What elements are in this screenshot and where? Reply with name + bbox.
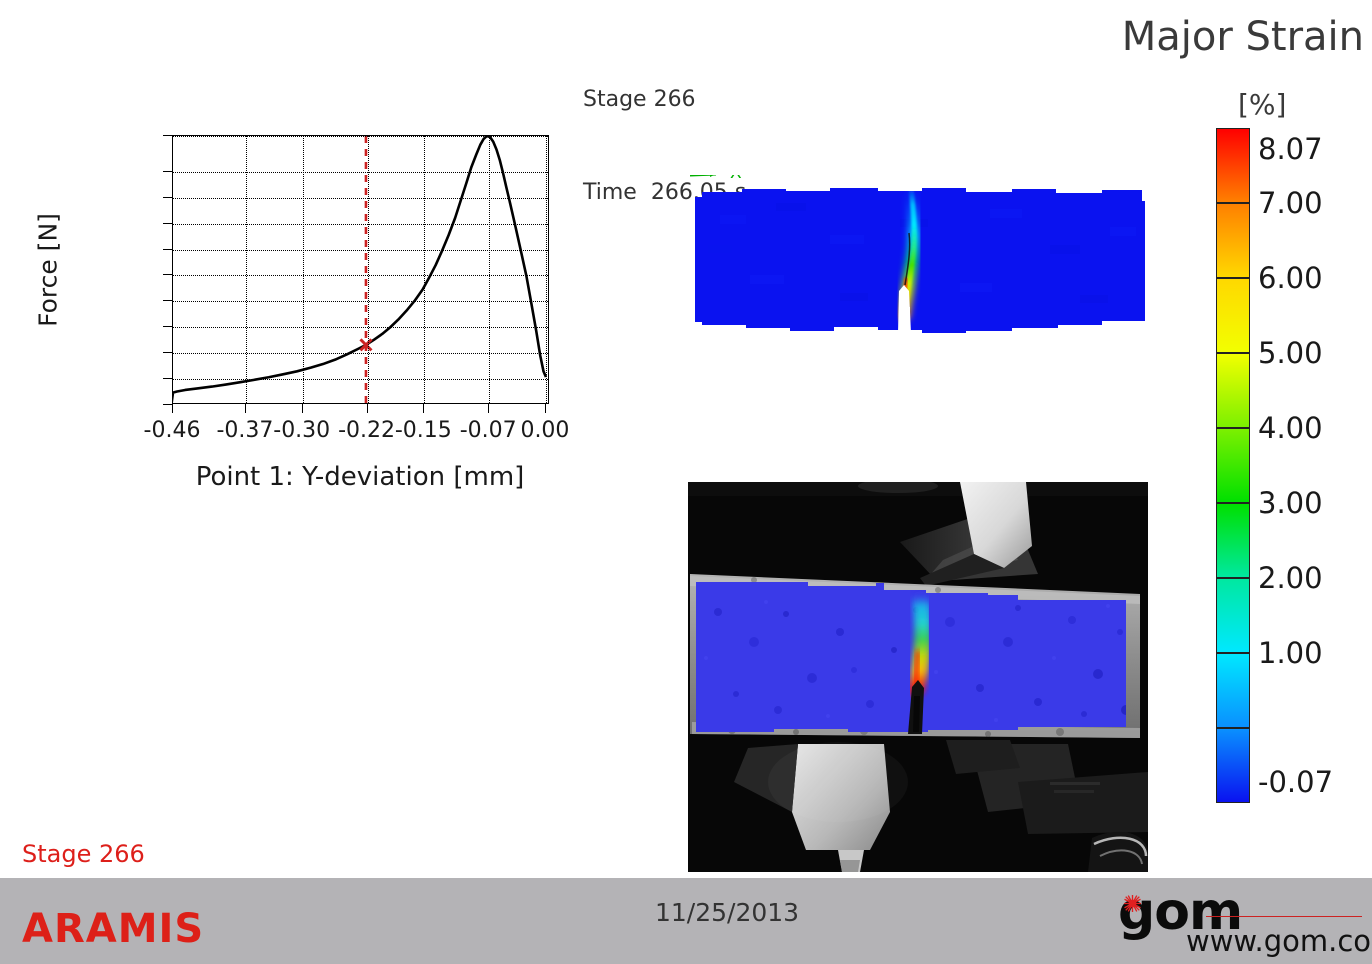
chart-y-tick-mark: [163, 300, 172, 301]
chart-x-tick-label: -0.07: [460, 418, 517, 443]
colorbar-tick-label: 8.07: [1258, 132, 1323, 166]
chart-y-tick-mark: [163, 326, 172, 327]
chart-y-tick-mark: [163, 249, 172, 250]
colorbar-unit-label: [%]: [1238, 88, 1286, 121]
chart-plot-area: [172, 135, 549, 404]
colorbar-segment: [1216, 653, 1250, 728]
product-name: ARAMIS: [22, 906, 204, 952]
page-title: Major Strain: [1122, 14, 1364, 60]
chart-x-axis-label: Point 1: Y-deviation [mm]: [196, 462, 525, 492]
gom-url-text: www.gom.com: [1186, 924, 1372, 958]
chart-y-tick-mark: [163, 223, 172, 224]
chart-y-tick-mark: [163, 171, 172, 172]
chart-x-tick-mark: [172, 404, 173, 413]
chart-y-axis-label: Force [N]: [34, 213, 63, 327]
stage-caption: Stage 266: [22, 840, 145, 868]
chart-x-tick-mark: [302, 404, 303, 413]
colorbar-tick-label: 6.00: [1258, 261, 1323, 295]
chart-x-tick-label: -0.15: [395, 418, 452, 443]
gom-logo-rule: [1206, 916, 1362, 917]
chart-y-tick-mark: [163, 135, 172, 136]
coordinate-triad: Z X: [690, 175, 742, 183]
colorbar-tick-label: 5.00: [1258, 336, 1323, 370]
colorbar-tick-label: 7.00: [1258, 186, 1323, 220]
gom-starburst-icon: [1124, 895, 1141, 912]
colorbar-segment: [1216, 503, 1250, 578]
chart-y-tick-mark: [163, 197, 172, 198]
chart-x-tick-label: -0.22: [338, 418, 395, 443]
chart-series-line: [173, 136, 546, 404]
strain-field-canvas: Z X: [690, 175, 1150, 347]
chart-x-tick-label: -0.30: [273, 418, 330, 443]
chart-y-tick-mark: [163, 274, 172, 275]
chart-x-tick-mark: [488, 404, 489, 413]
chart-x-tick-label: -0.46: [144, 418, 201, 443]
major-strain-surface-plot: Z X: [690, 175, 1150, 347]
gom-logo: gom www.gom.com: [1118, 886, 1364, 960]
camera-image-with-strain-overlay: [688, 482, 1148, 872]
chart-x-tick-mark: [423, 404, 424, 413]
colorbar-segment: [1216, 353, 1250, 428]
colorbar-tick-label: 2.00: [1258, 561, 1323, 595]
colorbar-segment: [1216, 578, 1250, 653]
chart-x-tick-label: -0.37: [216, 418, 273, 443]
chart-curve: [173, 136, 549, 404]
colorbar-segment: [1216, 203, 1250, 278]
chart-x-tick-mark: [245, 404, 246, 413]
chart-x-tick-label: 0.00: [520, 418, 569, 443]
footer-date: 11/25/2013: [655, 898, 799, 927]
chart-y-tick-mark: [163, 404, 172, 405]
triad-x-label: X: [730, 175, 742, 183]
chart-x-tick-mark: [367, 404, 368, 413]
chart-y-tick-mark: [163, 352, 172, 353]
colorbar-tick-label: 1.00: [1258, 636, 1323, 670]
colorbar-tick-label: 3.00: [1258, 486, 1323, 520]
colorbar-tick-label: -0.07: [1258, 765, 1333, 799]
colorbar-segment: [1216, 428, 1250, 503]
colorbar-segment: [1216, 128, 1250, 203]
chart-x-tick-mark: [545, 404, 546, 413]
colorbar-segment: [1216, 728, 1250, 803]
chart-y-tick-mark: [163, 378, 172, 379]
stage-number-text: Stage 266: [583, 84, 746, 115]
photo-canvas: [688, 482, 1148, 872]
colorbar-tick-label: 4.00: [1258, 411, 1323, 445]
colorbar-segment: [1216, 278, 1250, 353]
colorbar: [1216, 128, 1250, 803]
